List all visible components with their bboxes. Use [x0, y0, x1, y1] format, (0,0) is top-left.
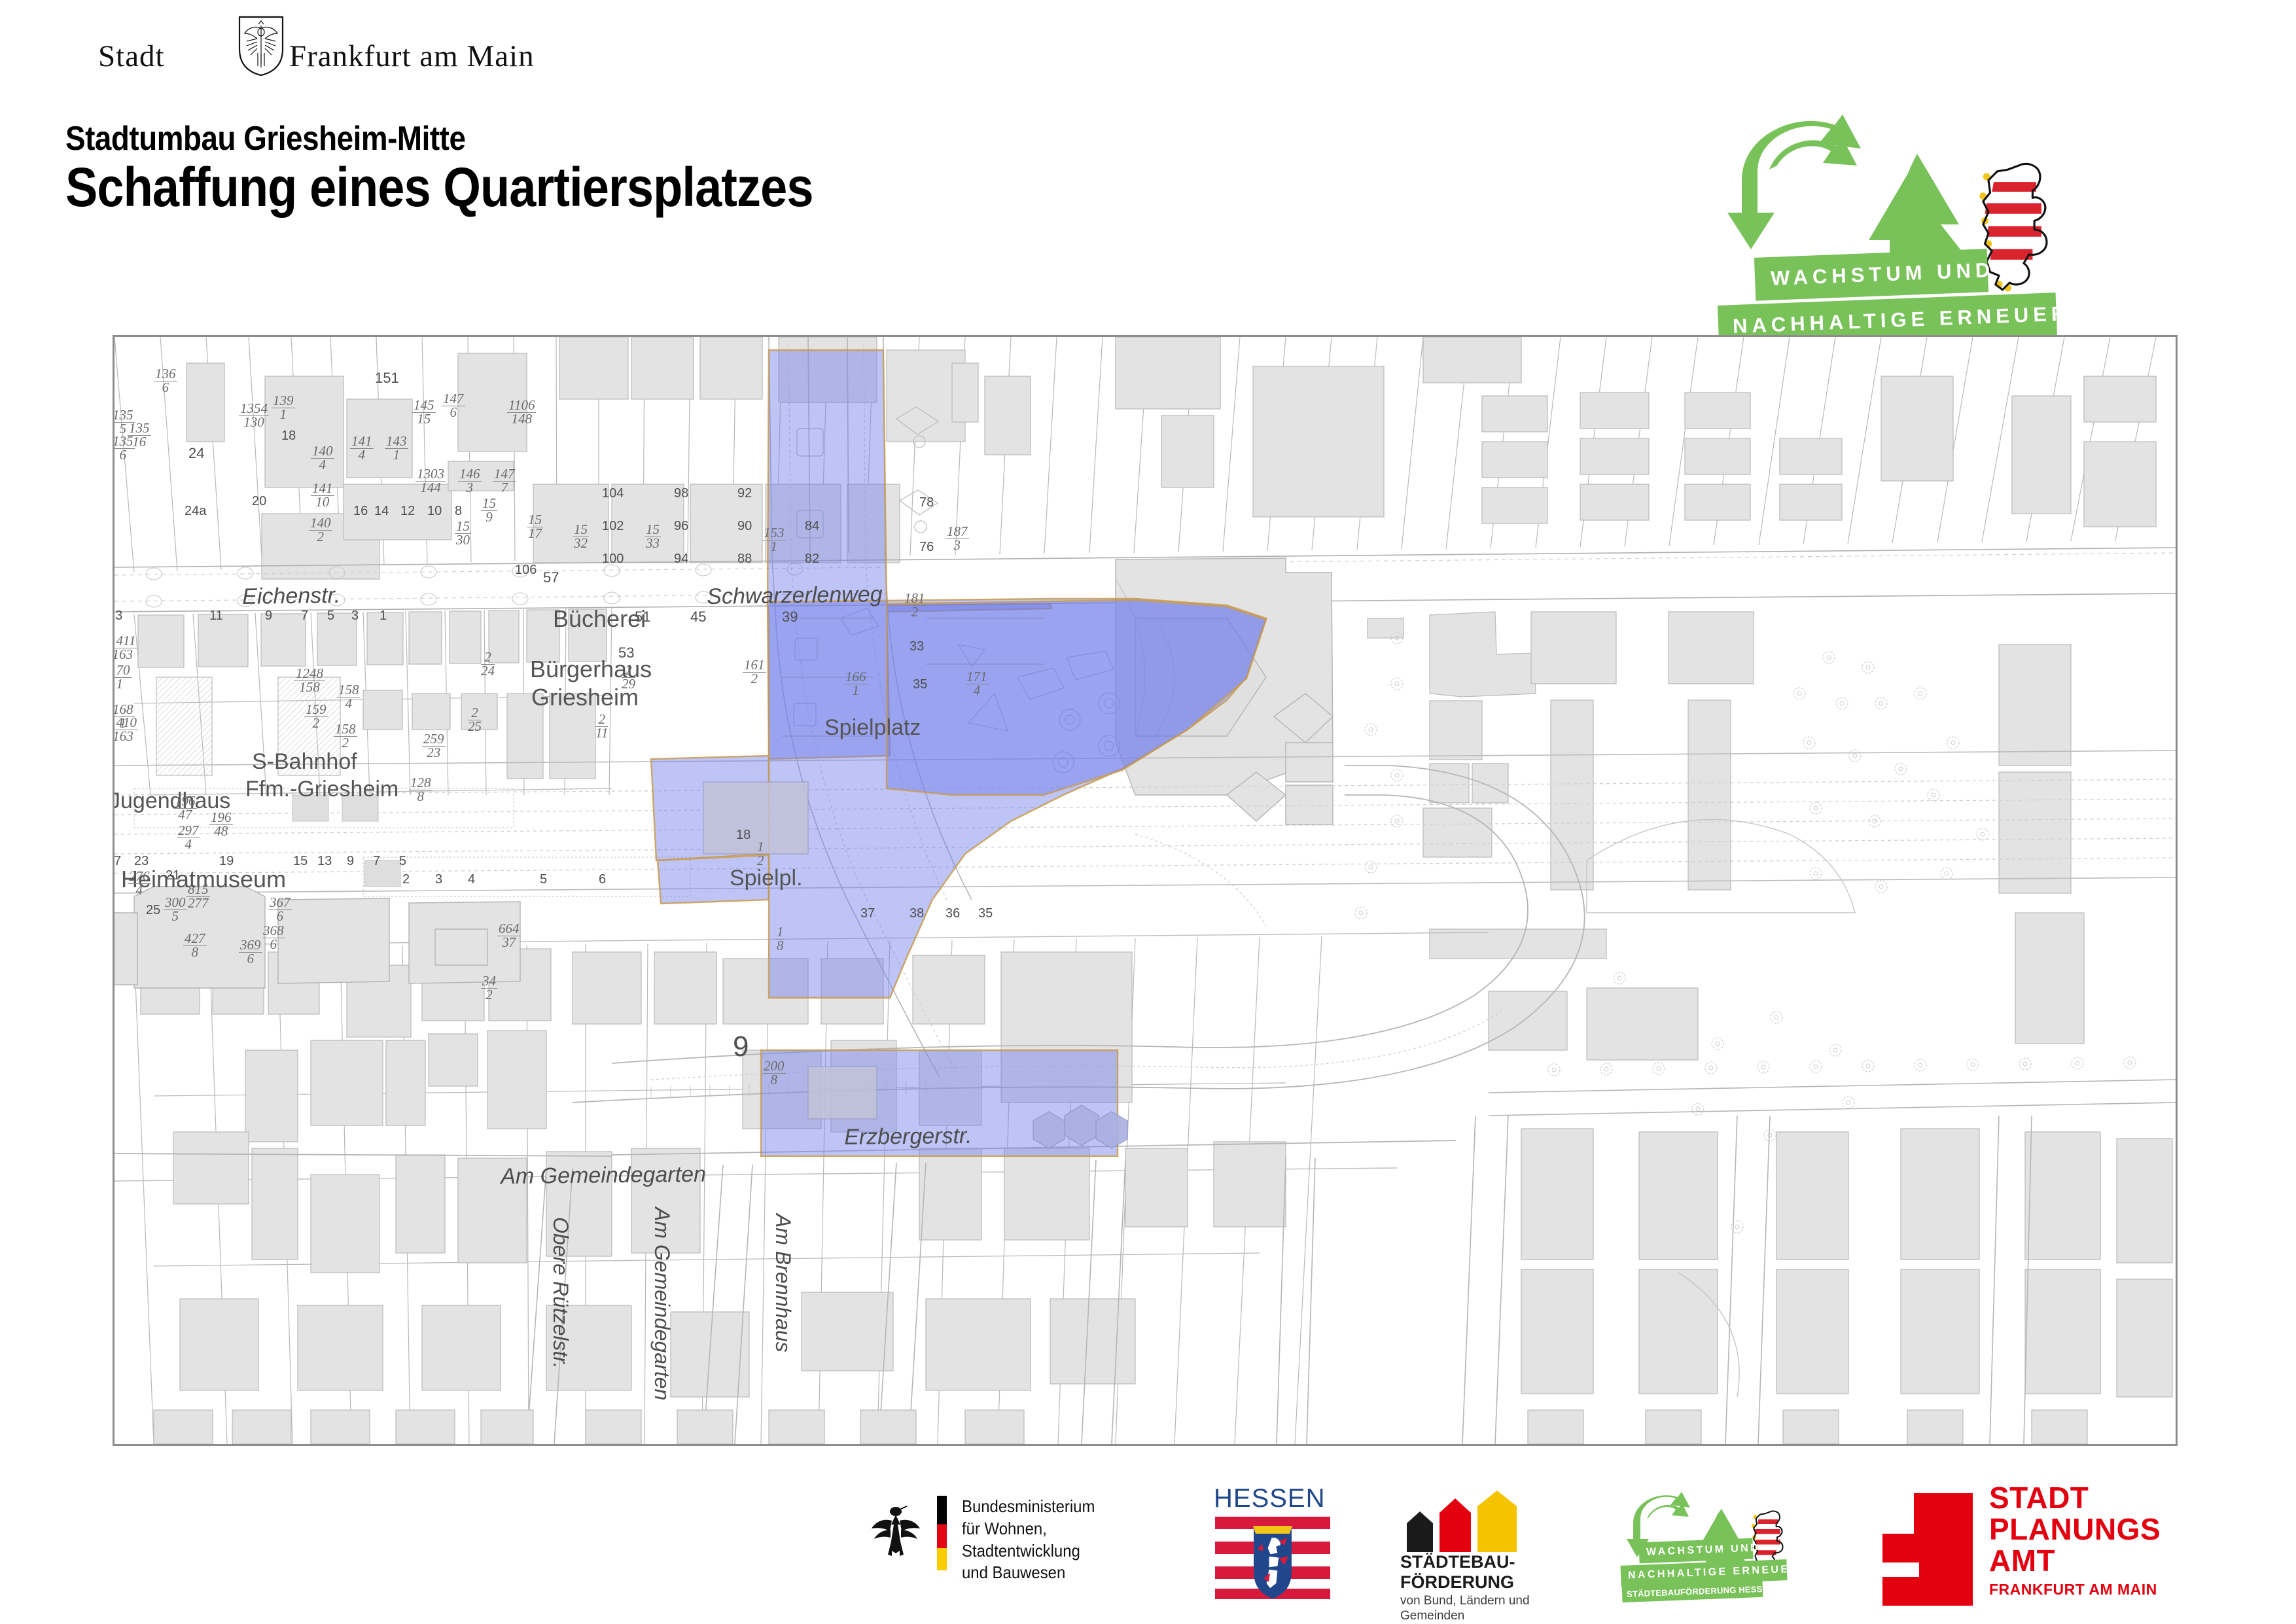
map-canvas	[115, 337, 2176, 1444]
city-logo: Stadt Frankfurt am Main	[98, 29, 517, 85]
program-logo-band-1: WACHSTUM UND	[1754, 249, 1988, 301]
city-wordmark: Stadt Frankfurt am Main	[98, 39, 517, 78]
page-title: Schaffung eines Quartiersplatzes	[65, 156, 813, 219]
bmwsb-line-1: Bundesministerium	[962, 1496, 1154, 1518]
stadtplanungsamt-line-1: STADT	[1989, 1483, 2161, 1514]
hessen-coat-of-arms-icon	[1214, 1515, 1332, 1600]
recycling-arrow-icon	[1727, 115, 1861, 249]
stadtplanungsamt-wordmark: STADT PLANUNGS AMT	[1989, 1483, 2161, 1576]
staedtebau-line-1: STÄDTEBAU-	[1400, 1552, 1515, 1572]
program-footer-band-1: WACHSTUM UND	[1638, 1538, 1753, 1564]
staedtebau-text: STÄDTEBAU- FÖRDERUNG	[1400, 1552, 1515, 1593]
footer-logo-strip: Bundesministerium für Wohnen, Stadtentwi…	[0, 1480, 2296, 1614]
stadtplanungsamt-mark-icon	[1868, 1491, 1983, 1608]
staedtebau-sub-1: von Bund, Ländern und	[1400, 1594, 1530, 1609]
stadtplanungsamt-logo: STADT PLANUNGS AMT FRANKFURT AM MAIN	[1868, 1485, 2202, 1606]
bmwsb-logo: Bundesministerium für Wohnen, Stadtentwi…	[870, 1487, 1171, 1591]
stadtplanungsamt-line-3: AMT	[1989, 1545, 2161, 1577]
staedtebau-subtext: von Bund, Ländern und Gemeinden	[1400, 1594, 1530, 1624]
three-houses-icon	[1400, 1489, 1551, 1552]
poster-subtitle: Stadtumbau Griesheim-Mitte	[65, 119, 465, 158]
hessen-wordmark: HESSEN	[1214, 1484, 1332, 1513]
bmwsb-line-2: für Wohnen, Stadtentwicklung	[962, 1518, 1154, 1562]
cadastral-map[interactable]: Eichenstr.SchwarzerlenwegAm Gemeindegart…	[113, 335, 2178, 1446]
bundesadler-icon	[870, 1498, 921, 1561]
staedtebau-line-2: FÖRDERUNG	[1400, 1572, 1515, 1593]
hessen-logo: HESSEN	[1214, 1484, 1332, 1602]
city-wordmark-stadt: Stadt	[98, 39, 165, 74]
bmwsb-text: Bundesministerium für Wohnen, Stadtentwi…	[962, 1496, 1154, 1584]
staedtebau-sub-2: Gemeinden	[1400, 1609, 1530, 1624]
program-logo-footer: WACHSTUM UND NACHHALTIGE ERNEUERUNG STÄD…	[1619, 1491, 1829, 1608]
staedtebaufoerderung-logo: STÄDTEBAU- FÖRDERUNG von Bund, Ländern u…	[1400, 1489, 1551, 1604]
city-wordmark-frankfurt: Frankfurt am Main	[289, 39, 535, 74]
stadtplanungsamt-line-2: PLANUNGS	[1989, 1514, 2161, 1545]
german-flag-bar-icon	[937, 1496, 947, 1570]
stadtplanungsamt-subline: FRANKFURT AM MAIN	[1989, 1581, 2157, 1598]
bmwsb-line-3: und Bauwesen	[962, 1562, 1154, 1584]
